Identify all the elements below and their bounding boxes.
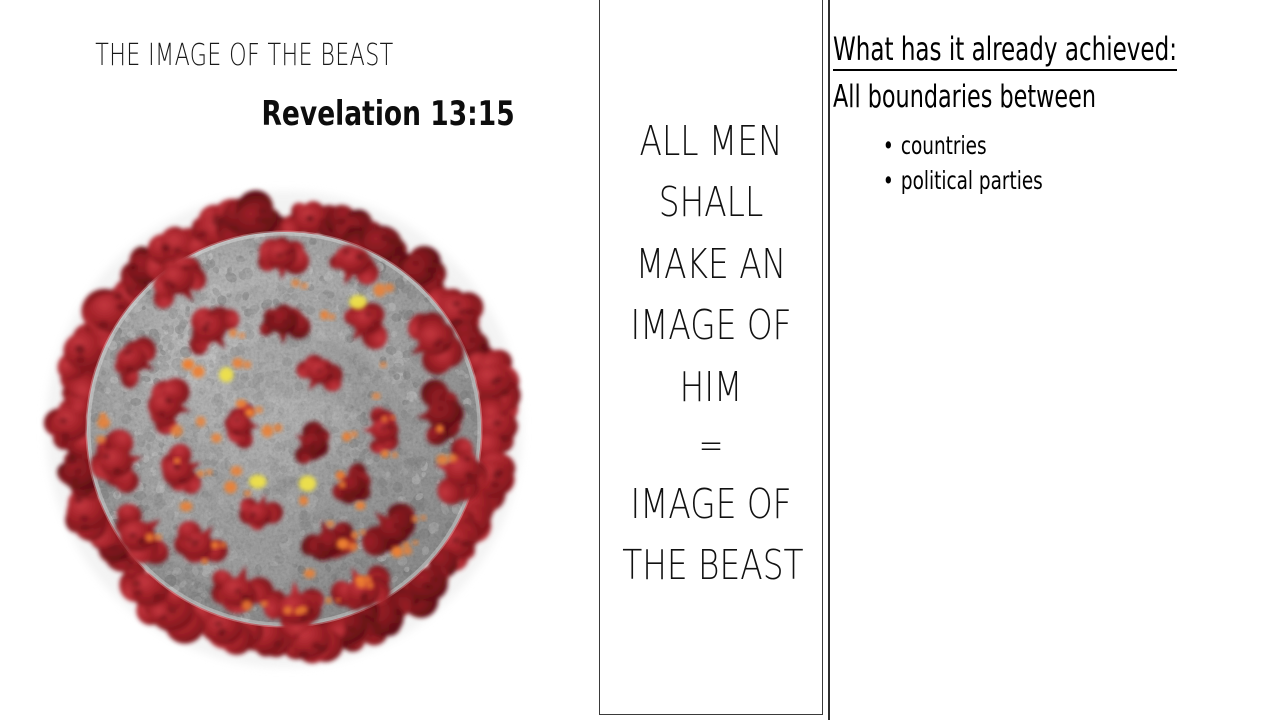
virus-accent-orange [392, 452, 398, 458]
virus-accent-yellow [249, 475, 267, 489]
right-panel-subheading: All boundaries between [833, 79, 1096, 115]
center-statement-line: MAKE AN [622, 234, 800, 296]
virus-accent-yellow [299, 476, 316, 492]
virus-accent-orange [381, 450, 389, 458]
virus-accent-orange [243, 361, 252, 369]
center-statement-line: THE BEAST [622, 535, 800, 597]
list-item-label: countries [901, 131, 987, 160]
center-statement-line: HIM [622, 357, 800, 419]
center-statement-line: = [622, 418, 800, 474]
virus-accent-orange [171, 425, 183, 437]
center-statement-text: ALL MENSHALLMAKE ANIMAGE OFHIM=IMAGE OFT… [622, 111, 800, 601]
virus-accent-orange [239, 333, 245, 339]
virus-accent-orange [320, 310, 329, 319]
virus-accent-orange [380, 362, 387, 368]
virus-accent-orange [373, 283, 385, 296]
virus-accent-orange [420, 515, 426, 520]
virus-accent-orange [355, 501, 365, 510]
virus-accent-orange [336, 538, 349, 550]
virus-accent-orange [99, 412, 106, 419]
virus-accent-orange [255, 406, 263, 413]
coronavirus-illustration [0, 118, 590, 720]
virus-accent-orange [328, 314, 335, 320]
right-panel-bullet-list: •countries•political parties [882, 128, 1078, 198]
list-item-label: political parties [901, 166, 1043, 195]
virus-accent-orange [372, 393, 380, 400]
virus-accent-yellow [219, 367, 233, 382]
center-statement-line: SHALL [622, 172, 800, 234]
virus-accent-orange [236, 399, 247, 408]
right-panel-heading: What has it already achieved: [833, 30, 1177, 68]
virus-accent-orange [436, 424, 444, 433]
virus-accent-orange [360, 530, 366, 535]
center-statement-box: ALL MENSHALLMAKE ANIMAGE OFHIM=IMAGE OFT… [599, 0, 823, 715]
virus-accent-orange [211, 541, 220, 549]
center-statement-line: IMAGE OF [622, 474, 800, 536]
virus-accent-orange [299, 496, 308, 506]
virus-accent-orange [342, 432, 351, 441]
virus-accent-orange [245, 408, 255, 417]
list-item: •political parties [882, 163, 1043, 198]
virus-accent-orange [297, 606, 308, 615]
virus-accent-orange [211, 433, 221, 443]
virus-accent-orange [351, 531, 359, 539]
virus-accent-orange [448, 454, 458, 463]
virus-accent-orange [436, 454, 448, 464]
list-item: •countries [882, 128, 1043, 163]
virus-accent-orange [201, 558, 208, 564]
virus-accent-orange [182, 359, 194, 370]
virus-accent-orange [390, 415, 395, 420]
virus-accent-orange [273, 424, 282, 432]
virus-accent-orange [262, 425, 274, 437]
right-panel-heading-text: What has it already achieved: [833, 30, 1177, 71]
virus-accent-orange [145, 533, 155, 542]
virus-accent-orange [325, 597, 331, 603]
virus-accent-yellow [349, 295, 367, 309]
virus-accent-orange [174, 458, 181, 464]
virus-accent-orange [192, 366, 205, 378]
virus-accent-orange [336, 471, 345, 480]
virus-accent-orange [196, 416, 206, 426]
virus-accent-orange [291, 279, 300, 287]
virus-accent-orange [196, 470, 204, 477]
center-statement-line: ALL MEN [622, 111, 800, 173]
center-statement-line: IMAGE OF [622, 295, 800, 357]
virus-accent-orange [348, 542, 358, 551]
virus-accent-orange [326, 520, 334, 527]
virus-accent-orange [403, 546, 413, 555]
virus-accent-orange [336, 598, 341, 603]
virus-accent-orange [413, 540, 419, 545]
virus-accent-orange [96, 435, 106, 443]
bullet-dot-icon: • [883, 128, 894, 163]
virus-accent-orange [339, 481, 346, 489]
virus-accent-orange [232, 358, 243, 368]
virus-accent-orange [244, 490, 251, 496]
virus-accent-orange [224, 481, 237, 493]
virus-accent-orange [206, 469, 213, 475]
virus-accent-orange [154, 534, 162, 541]
virus-accent-orange [384, 283, 394, 292]
virus-accent-orange [363, 576, 372, 584]
virus-accent-orange [411, 516, 418, 522]
slide-canvas: THE IMAGE OF THE BEAST Revelation 13:15 [0, 0, 1280, 720]
virus-accent-orange [242, 600, 253, 611]
virus-accent-orange [304, 569, 315, 578]
left-panel: THE IMAGE OF THE BEAST Revelation 13:15 [0, 0, 598, 720]
virus-accent-orange [283, 606, 293, 615]
coronavirus-svg [0, 118, 590, 720]
right-panel: What has it already achieved: All bounda… [830, 0, 1280, 720]
virus-accent-orange [391, 546, 403, 557]
virus-accent-orange [231, 466, 243, 476]
virus-accent-orange [219, 542, 226, 548]
virus-accent-orange [301, 283, 308, 289]
virus-accent-orange [180, 501, 193, 511]
virus-accent-orange [381, 416, 388, 423]
bullet-dot-icon: • [883, 163, 894, 198]
virus-accent-orange [229, 329, 237, 338]
virus-accent-orange [261, 600, 269, 606]
page-title: THE IMAGE OF THE BEAST [68, 38, 422, 73]
virus-accent-orange [350, 431, 357, 437]
